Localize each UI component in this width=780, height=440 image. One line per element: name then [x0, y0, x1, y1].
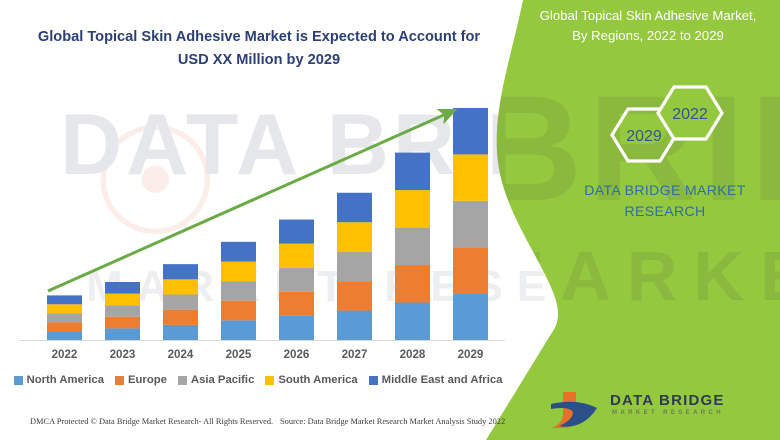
- bar-segment: [453, 294, 488, 340]
- legend-label: North America: [27, 374, 104, 386]
- legend-item[interactable]: Europe: [115, 374, 167, 386]
- bar-segment: [163, 264, 198, 279]
- legend-swatch-icon: [115, 376, 124, 385]
- panel-brand-line-2: RESEARCH: [560, 201, 770, 222]
- bar-segment: [337, 252, 372, 281]
- bar-segment: [395, 303, 430, 340]
- chart-legend: North AmericaEuropeAsia PacificSouth Ame…: [0, 374, 516, 386]
- bar-segment: [453, 247, 488, 293]
- x-axis-tick-label: 2024: [168, 348, 194, 361]
- legend-item[interactable]: Asia Pacific: [178, 374, 254, 386]
- bar-segment: [453, 154, 488, 200]
- bar-segment: [221, 301, 256, 321]
- bar-segment: [337, 311, 372, 340]
- bar-segment: [395, 228, 430, 265]
- bar-segment: [395, 153, 430, 190]
- panel-brand-line-1: DATA BRIDGE MARKET: [560, 180, 770, 201]
- bar-segment: [279, 292, 314, 316]
- legend-item[interactable]: North America: [14, 374, 104, 386]
- bar-segment: [163, 325, 198, 340]
- bar-segment: [453, 201, 488, 247]
- svg-text:MARKET: MARKET: [486, 237, 780, 315]
- x-axis-tick-label: 2028: [400, 348, 426, 361]
- hexagon-badges: 2029 2022: [590, 85, 780, 185]
- bar-segment: [337, 193, 372, 222]
- bar-segment: [395, 265, 430, 302]
- bar-segment: [47, 295, 82, 304]
- bar-segment: [279, 244, 314, 268]
- bar-segment: [105, 305, 140, 317]
- bar-segment: [105, 317, 140, 329]
- x-axis-tick-label: 2025: [226, 348, 252, 361]
- legend-swatch-icon: [369, 376, 378, 385]
- bar-segment: [279, 220, 314, 244]
- stacked-bar-chart: 20222023202420252026202720282029: [0, 0, 520, 375]
- bar-segment: [453, 108, 488, 154]
- legend-item[interactable]: Middle East and Africa: [369, 374, 503, 386]
- footer-source: Source: Data Bridge Market Research Mark…: [280, 417, 505, 426]
- bar-segment: [163, 279, 198, 294]
- bar-segment: [279, 316, 314, 340]
- legend-label: Europe: [128, 374, 167, 386]
- legend-swatch-icon: [265, 376, 274, 385]
- legend-swatch-icon: [14, 376, 23, 385]
- legend-swatch-icon: [178, 376, 187, 385]
- hexagon-2029-label: 2029: [626, 128, 662, 145]
- logo-wordmark: DATA BRIDGE: [610, 392, 725, 409]
- x-axis-tick-label: 2022: [52, 348, 78, 361]
- legend-item[interactable]: South America: [265, 374, 357, 386]
- bar-segment: [221, 261, 256, 281]
- bar-segment: [105, 328, 140, 340]
- bar-segment: [279, 268, 314, 292]
- bar-segment: [221, 281, 256, 301]
- chart-bars-group: [47, 108, 488, 340]
- panel-brand: DATA BRIDGE MARKET RESEARCH: [560, 180, 770, 222]
- bar-segment: [221, 242, 256, 262]
- bar-segment: [105, 294, 140, 306]
- panel-title-line-1: Global Topical Skin Adhesive Market,: [516, 6, 780, 26]
- bar-segment: [47, 322, 82, 331]
- bar-segment: [47, 304, 82, 313]
- panel-title-line-2: By Regions, 2022 to 2029: [516, 26, 780, 46]
- bar-segment: [105, 282, 140, 294]
- infographic-canvas: ☉ DATA BRIDGE MARKET RESEARCH BRIDGE MAR…: [0, 0, 780, 440]
- bar-segment: [337, 281, 372, 310]
- logo-tagline: MARKET RESEARCH: [612, 410, 724, 416]
- legend-label: Asia Pacific: [191, 374, 254, 386]
- bar-segment: [47, 313, 82, 322]
- panel-title: Global Topical Skin Adhesive Market, By …: [516, 6, 780, 47]
- bar-segment: [221, 320, 256, 340]
- footer-copyright: DMCA Protected © Data Bridge Market Rese…: [30, 417, 273, 426]
- chart-x-axis-labels: 20222023202420252026202720282029: [52, 348, 484, 361]
- legend-label: South America: [278, 374, 357, 386]
- bar-segment: [163, 294, 198, 309]
- x-axis-tick-label: 2026: [284, 348, 310, 361]
- legend-label: Middle East and Africa: [382, 374, 503, 386]
- bar-segment: [337, 222, 372, 251]
- x-axis-tick-label: 2023: [110, 348, 136, 361]
- bar-segment: [163, 310, 198, 325]
- hexagon-2022-label: 2022: [672, 106, 708, 123]
- bar-segment: [395, 190, 430, 227]
- x-axis-tick-label: 2029: [458, 348, 484, 361]
- bar-segment: [47, 331, 82, 340]
- x-axis-tick-label: 2027: [342, 348, 368, 361]
